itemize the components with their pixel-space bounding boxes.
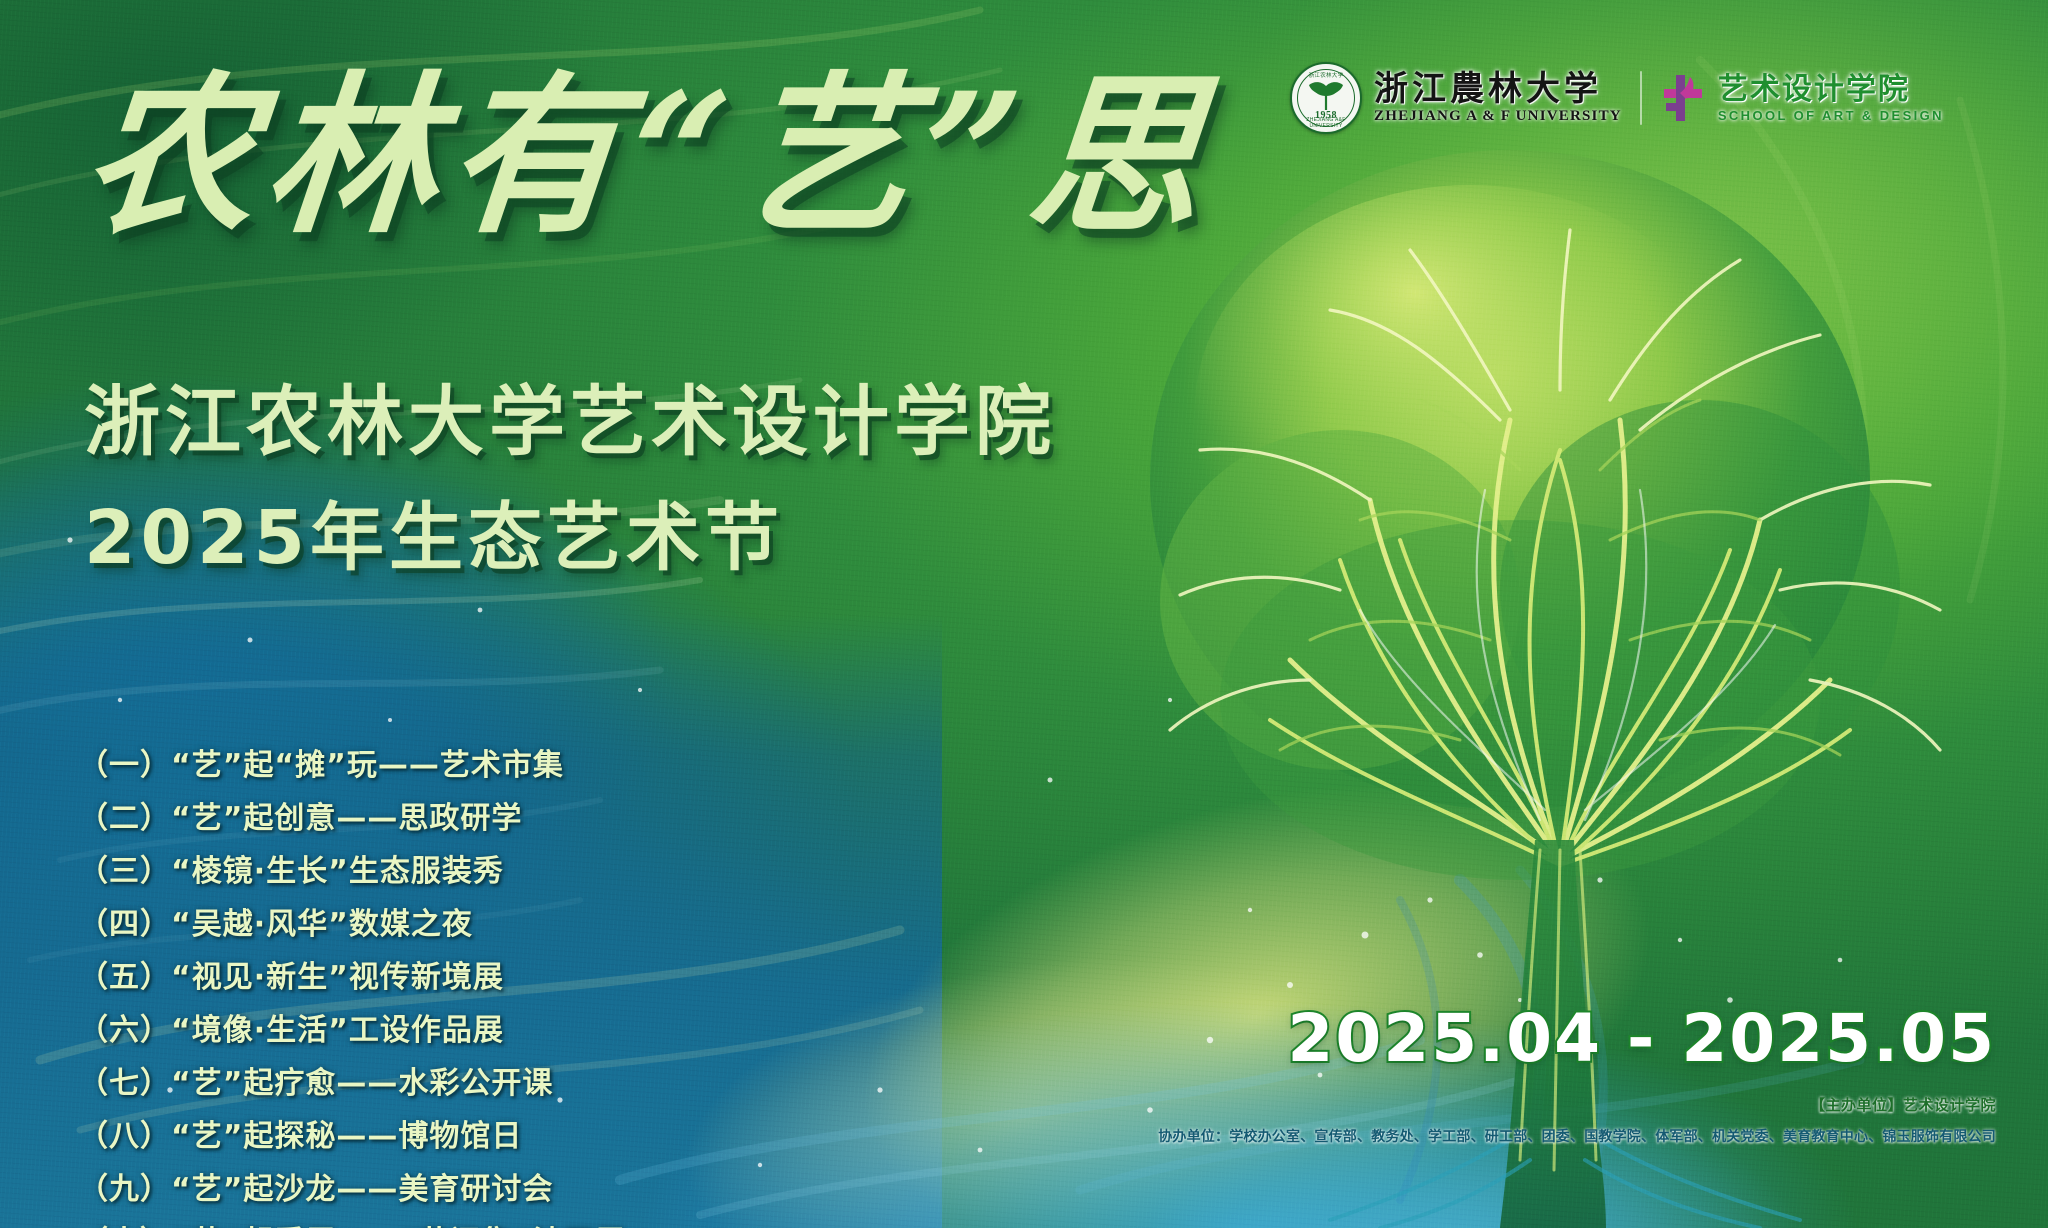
eco-art-festival-poster: 浙江农林大学 1958 ZHEJIANG A&F UNIVERSITY 浙江農林… xyxy=(0,0,2048,1228)
poster-subtitle-line-2: 2025年生态艺术节 xyxy=(84,478,784,585)
list-item: （十）“艺”起看展——“花间集”油画展 xyxy=(78,1217,626,1228)
university-logo: 浙江农林大学 1958 ZHEJIANG A&F UNIVERSITY 浙江農林… xyxy=(1290,62,1622,134)
school-name-cn: 艺术设计学院 xyxy=(1718,75,1944,105)
school-name-en: SCHOOL OF ART & DESIGN xyxy=(1718,109,1944,122)
university-name-en: ZHEJIANG A & F UNIVERSITY xyxy=(1374,109,1622,124)
list-item: （三）“棱镜·生长”生态服装秀 xyxy=(78,846,626,890)
art-design-mark-icon xyxy=(1660,73,1706,123)
co-organizer-credit: 协办单位：学校办公室、宣传部、教务处、学工部、研工部、团委、国教学院、体军部、机… xyxy=(1158,1126,1996,1146)
logo-divider xyxy=(1640,71,1642,125)
logo-bar: 浙江农林大学 1958 ZHEJIANG A&F UNIVERSITY 浙江農林… xyxy=(1290,62,1944,134)
seal-arc-bottom-text: ZHEJIANG A&F UNIVERSITY xyxy=(1292,117,1360,129)
list-item: （四）“吴越·风华”数媒之夜 xyxy=(78,899,626,943)
school-logo: 艺术设计学院 SCHOOL OF ART & DESIGN xyxy=(1660,73,1944,123)
list-item: （六）“境像·生活”工设作品展 xyxy=(78,1005,626,1049)
poster-subtitle-line-1: 浙江农林大学艺术设计学院 xyxy=(84,360,1056,470)
ginkgo-leaf-icon xyxy=(1306,78,1346,112)
list-item: （二）“艺”起创意——思政研学 xyxy=(78,793,626,837)
university-name-cn: 浙江農林大学 xyxy=(1374,72,1622,106)
event-list: （一）“艺”起“摊”玩——艺术市集 （二）“艺”起创意——思政研学 （三）“棱镜… xyxy=(78,740,626,1228)
list-item: （九）“艺”起沙龙——美育研讨会 xyxy=(78,1164,626,1208)
list-item: （五）“视见·新生”视传新境展 xyxy=(78,952,626,996)
event-date-range: 2025.04 - 2025.05 xyxy=(1287,1000,1996,1077)
list-item: （一）“艺”起“摊”玩——艺术市集 xyxy=(78,740,626,784)
ginkgo-seal-icon: 浙江农林大学 1958 ZHEJIANG A&F UNIVERSITY xyxy=(1290,62,1362,134)
poster-headline: 农林有“艺”思 xyxy=(76,70,1219,242)
list-item: （八）“艺”起探秘——博物馆日 xyxy=(78,1111,626,1155)
organizer-credit: 【主办单位】艺术设计学院 xyxy=(1810,1094,1996,1115)
list-item: （七）“艺”起疗愈——水彩公开课 xyxy=(78,1058,626,1102)
